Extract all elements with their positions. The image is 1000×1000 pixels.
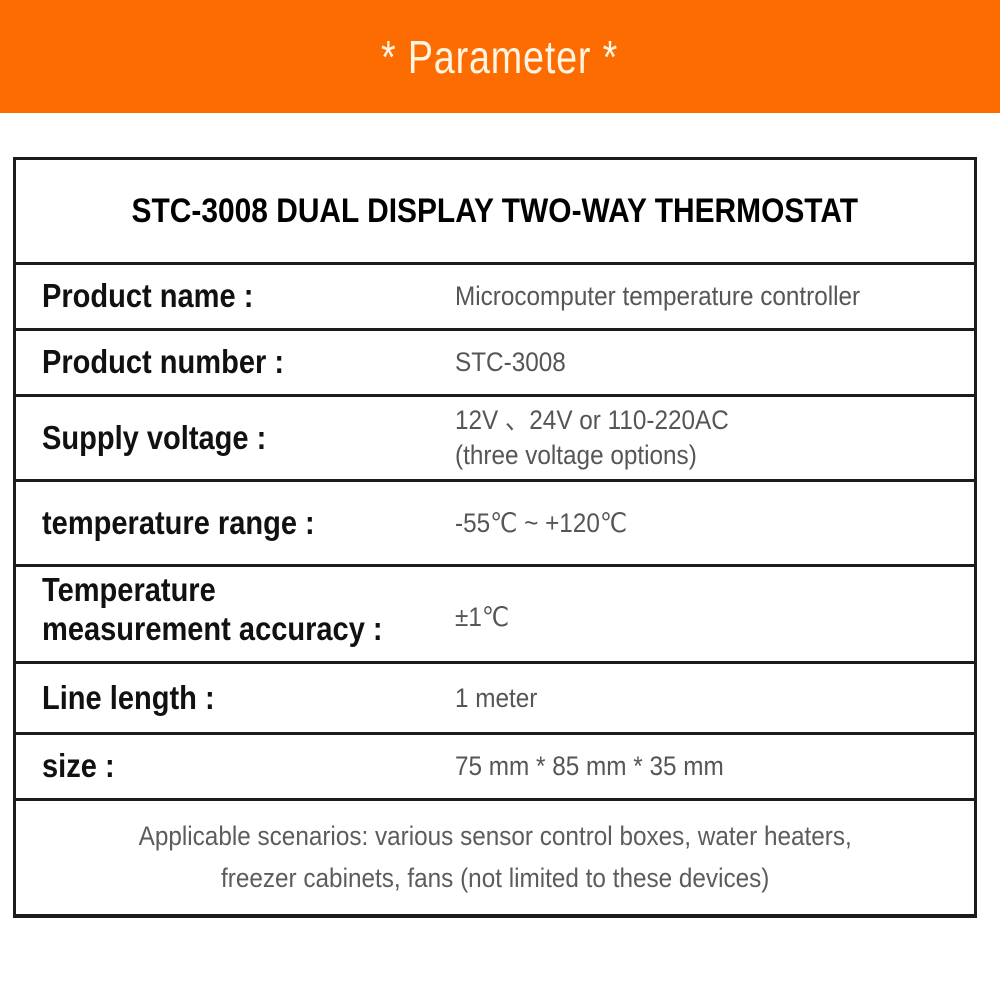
row-value-supply-voltage: 12V 、24V or 110-220AC (three voltage opt… [455,403,974,472]
row-label-product-name: Product name : [16,277,455,316]
applicable-scenarios-text: Applicable scenarios: various sensor con… [138,816,851,900]
row-value-temperature-range: -55℃ ~ +120℃ [455,506,974,541]
value-text: ±1℃ [455,600,509,635]
row-label-line-length: Line length : [16,679,455,718]
table-row: size : 75 mm * 85 mm * 35 mm [16,735,974,801]
label-text: Temperature measurement accuracy : [42,571,383,649]
row-label-supply-voltage: Supply voltage : [16,419,455,458]
row-value-size: 75 mm * 85 mm * 35 mm [455,749,974,784]
row-label-temperature-range: temperature range : [16,504,455,543]
table-row: Supply voltage : 12V 、24V or 110-220AC (… [16,397,974,482]
table-row: Temperature measurement accuracy : ±1℃ [16,567,974,664]
banner-title: * Parameter * [381,34,618,80]
table-row: Product name : Microcomputer temperature… [16,265,974,331]
page-banner: * Parameter * [0,0,1000,113]
label-text: Supply voltage : [42,419,266,458]
label-text: Line length : [42,679,215,718]
label-text: size : [42,747,115,786]
value-text: 12V 、24V or 110-220AC (three voltage opt… [455,403,729,472]
row-value-measurement-accuracy: ±1℃ [455,600,974,653]
table-row: temperature range : -55℃ ~ +120℃ [16,482,974,567]
product-title: STC-3008 DUAL DISPLAY TWO-WAY THERMOSTAT [132,192,858,231]
row-label-product-number: Product number : [16,343,455,382]
table-row: Line length : 1 meter [16,664,974,735]
row-label-size: size : [16,747,455,786]
value-text: -55℃ ~ +120℃ [455,506,627,541]
row-value-product-name: Microcomputer temperature controller [455,279,974,314]
row-value-line-length: 1 meter [455,681,974,716]
parameter-spec-page: * Parameter * STC-3008 DUAL DISPLAY TWO-… [0,0,1000,1000]
value-text: 75 mm * 85 mm * 35 mm [455,749,724,784]
table-row: Product number : STC-3008 [16,331,974,397]
value-text: 1 meter [455,681,537,716]
value-text: Microcomputer temperature controller [455,279,860,314]
row-value-product-number: STC-3008 [455,345,974,380]
table-title-row: STC-3008 DUAL DISPLAY TWO-WAY THERMOSTAT [16,160,974,265]
value-text: STC-3008 [455,345,566,380]
label-text: Product number : [42,343,284,382]
label-text: Product name : [42,277,253,316]
row-label-measurement-accuracy: Temperature measurement accuracy : [16,571,455,649]
label-text: temperature range : [42,504,315,543]
table-footer-row: Applicable scenarios: various sensor con… [16,801,974,914]
specification-table: STC-3008 DUAL DISPLAY TWO-WAY THERMOSTAT… [13,157,977,918]
